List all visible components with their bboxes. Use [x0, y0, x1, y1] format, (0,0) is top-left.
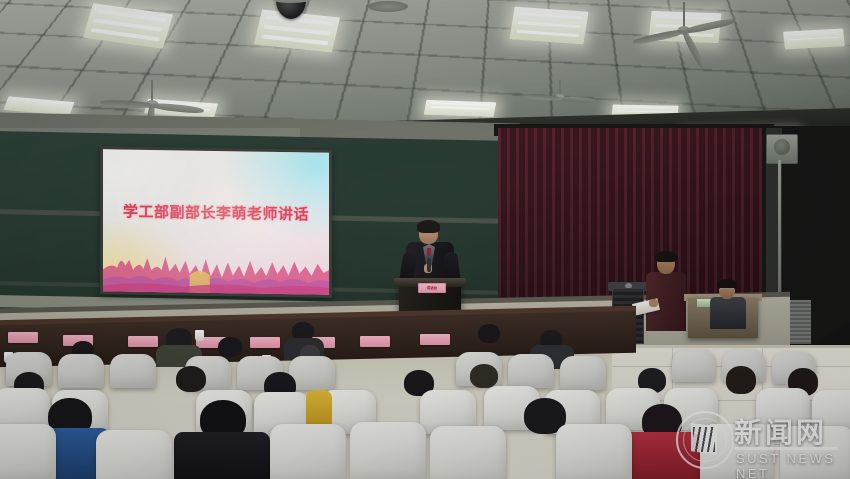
- watermark-divider: [734, 447, 838, 450]
- podium-nameplate-text: 讲话台: [419, 284, 445, 292]
- wall-speaker: [766, 134, 798, 164]
- audience-head: [176, 366, 206, 392]
- crowd-silhouette: [103, 229, 329, 295]
- paper-cup: [195, 330, 204, 341]
- seal-inner-mark: [691, 423, 717, 455]
- name-placard: [360, 336, 390, 347]
- audience-chair: [508, 354, 554, 388]
- name-placard: [8, 332, 38, 343]
- photo-canvas: 学工部副部长李萌老师讲话 讲话台: [0, 0, 850, 479]
- name-placard: [128, 336, 158, 347]
- audience-chair: [560, 356, 606, 390]
- watermark-chinese-text: 新闻网: [734, 411, 827, 451]
- name-placard: [420, 334, 450, 345]
- audience-chair: [96, 430, 172, 479]
- podium-nameplate: 讲话台: [418, 283, 446, 293]
- watermark: 新闻网 SUST NEWS NET: [674, 407, 842, 473]
- audience-chair: [672, 350, 716, 382]
- audience-head: [478, 324, 500, 343]
- air-vent: [368, 1, 408, 12]
- projector-screen: 学工部副部长李萌老师讲话: [100, 146, 332, 298]
- audience-chair: [58, 354, 104, 388]
- watermark-english-text: SUST NEWS NET: [736, 451, 842, 479]
- ceiling-lamp: [424, 100, 497, 117]
- audience-head: [726, 366, 756, 394]
- audience-chair: [350, 422, 426, 479]
- name-placard: [250, 337, 280, 348]
- audience-chair: [556, 424, 632, 479]
- university-seal-icon: [676, 411, 734, 469]
- standing-person: [645, 253, 687, 331]
- audience-head: [470, 364, 498, 388]
- audience-chair: [430, 426, 506, 479]
- audience-head: [218, 337, 242, 357]
- audience-chair: [270, 424, 346, 479]
- audience-body: [174, 432, 270, 479]
- audience-chair: [110, 354, 156, 388]
- ceiling-lamp: [509, 7, 588, 45]
- slide-title: 学工部副部长李萌老师讲话: [103, 200, 329, 225]
- ceiling-lamp: [783, 28, 845, 49]
- seated-person-at-desk: [710, 281, 746, 329]
- microphone: [427, 258, 431, 272]
- audience-chair: [0, 424, 56, 479]
- projected-slide: 学工部副部长李萌老师讲话: [103, 149, 329, 295]
